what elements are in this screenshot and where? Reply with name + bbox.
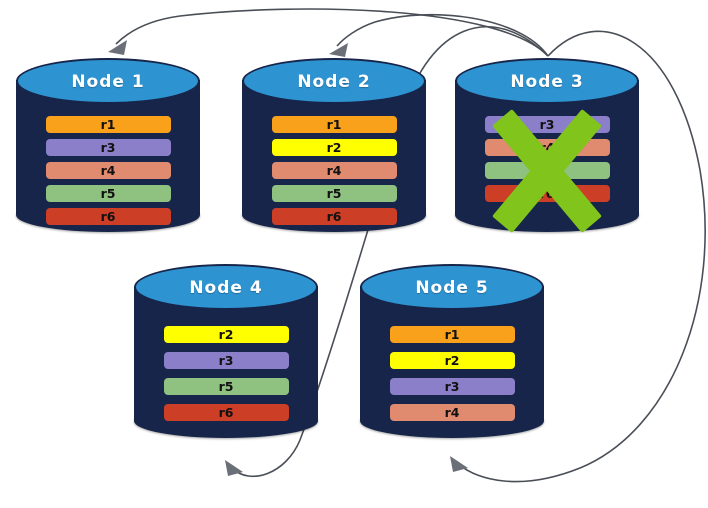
shard-r3: r3	[46, 139, 171, 156]
node-1[interactable]: Node 1 r1 r3 r4 r5 r6	[16, 58, 200, 236]
diagram-canvas: Node 1 r1 r3 r4 r5 r6 Node 2 r1 r2 r4 r5…	[0, 0, 708, 508]
node-4-shards: r2 r3 r5 r6	[134, 326, 318, 421]
node-2-shards: r1 r2 r4 r5 r6	[242, 116, 426, 225]
node-2[interactable]: Node 2 r1 r2 r4 r5 r6	[242, 58, 426, 236]
node-5[interactable]: Node 5 r1 r2 r3 r4	[360, 264, 544, 442]
shard-r1: r1	[272, 116, 397, 133]
shard-r2: r2	[164, 326, 289, 343]
shard-r3: r3	[485, 116, 610, 133]
arrow-node3-to-node1	[108, 9, 548, 56]
node-5-shards: r1 r2 r3 r4	[360, 326, 544, 421]
node-3-shards: r3 r4 r5 r6	[455, 116, 639, 202]
node-4[interactable]: Node 4 r2 r3 r5 r6	[134, 264, 318, 442]
shard-r1: r1	[390, 326, 515, 343]
shard-r6: r6	[485, 185, 610, 202]
shard-r4: r4	[485, 139, 610, 156]
node-4-label: Node 4	[134, 278, 318, 298]
shard-r5: r5	[46, 185, 171, 202]
node-2-label: Node 2	[242, 72, 426, 92]
node-3[interactable]: Node 3 r3 r4 r5 r6	[455, 58, 639, 236]
shard-r4: r4	[390, 404, 515, 421]
node-1-label: Node 1	[16, 72, 200, 92]
shard-r2: r2	[390, 352, 515, 369]
shard-r4: r4	[46, 162, 171, 179]
shard-r3: r3	[390, 378, 515, 395]
shard-r5: r5	[485, 162, 610, 179]
shard-r6: r6	[272, 208, 397, 225]
shard-r5: r5	[272, 185, 397, 202]
shard-r4: r4	[272, 162, 397, 179]
shard-r5: r5	[164, 378, 289, 395]
arrow-node3-to-node2	[329, 15, 548, 57]
shard-r3: r3	[164, 352, 289, 369]
shard-r6: r6	[46, 208, 171, 225]
shard-r6: r6	[164, 404, 289, 421]
shard-r1: r1	[46, 116, 171, 133]
shard-r2: r2	[272, 139, 397, 156]
node-1-shards: r1 r3 r4 r5 r6	[16, 116, 200, 225]
node-3-label: Node 3	[455, 72, 639, 92]
node-5-label: Node 5	[360, 278, 544, 298]
